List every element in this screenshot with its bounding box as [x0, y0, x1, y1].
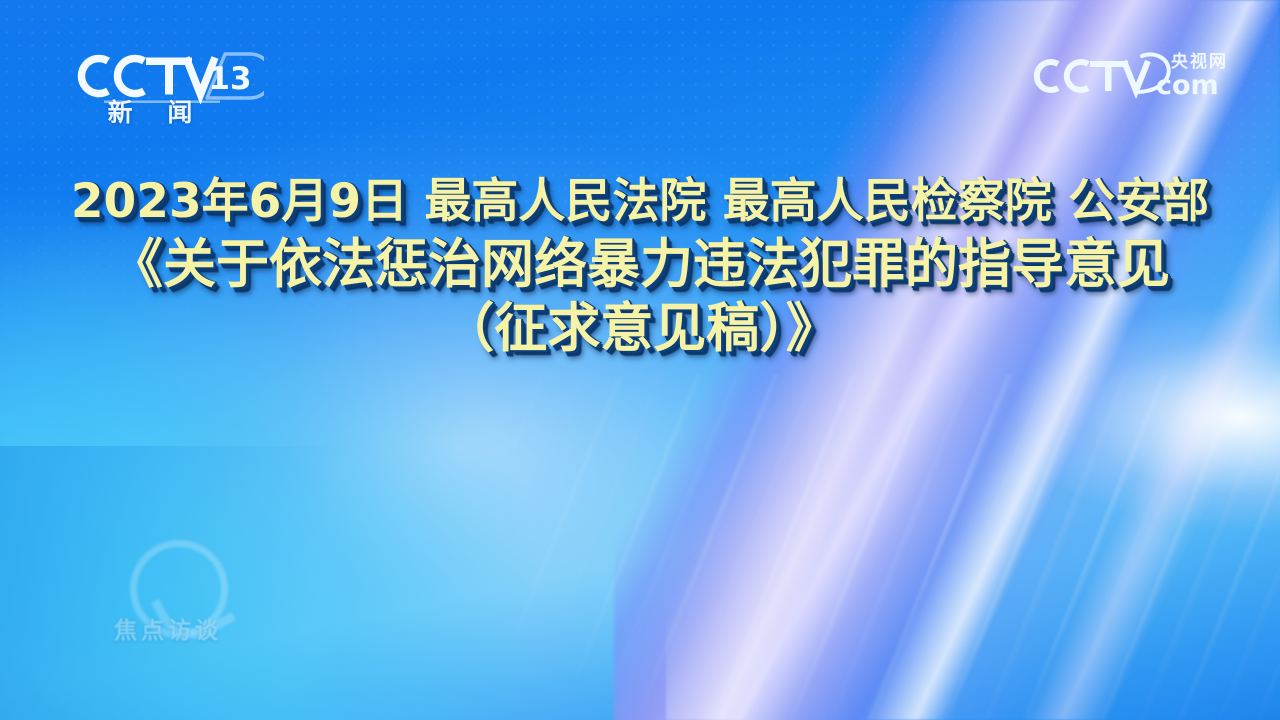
- svg-text:com: com: [1156, 70, 1219, 101]
- svg-text:13: 13: [208, 61, 251, 97]
- channel-name-label: 新 闻: [74, 100, 226, 125]
- background-lavender-ribbons: [614, 0, 1280, 720]
- background-swoosh-curve: [0, 326, 1245, 720]
- title-card: 2023年6月9日 最高人民法院 最高人民检察院 公安部 《关于依法惩治网络暴力…: [0, 178, 1280, 356]
- program-name-label: 焦点访谈: [114, 620, 222, 643]
- broadcast-frame: 13 新 闻 com 央视网 2023年6月9日 最高人民法院 最高人民检察院: [0, 0, 1280, 720]
- network-chinese-name-label: 央视网: [1171, 54, 1228, 71]
- title-line-document-status: （征求意见稿）》: [0, 302, 1280, 356]
- program-watermark: 焦点访谈: [108, 540, 298, 650]
- title-line-date-agencies: 2023年6月9日 最高人民法院 最高人民检察院 公安部: [0, 178, 1280, 226]
- background-lower-streaks: [512, 374, 1280, 720]
- title-line-document-name: 《关于依法惩治网络暴力违法犯罪的指导意见: [0, 238, 1280, 292]
- network-logo-cctv-com: com 央视网: [1032, 48, 1228, 108]
- cctv13-logo-icon: 13: [74, 48, 264, 104]
- channel-logo-cctv13: 13 新 闻: [74, 48, 264, 132]
- background-highlight-ribbons: [666, 0, 1280, 720]
